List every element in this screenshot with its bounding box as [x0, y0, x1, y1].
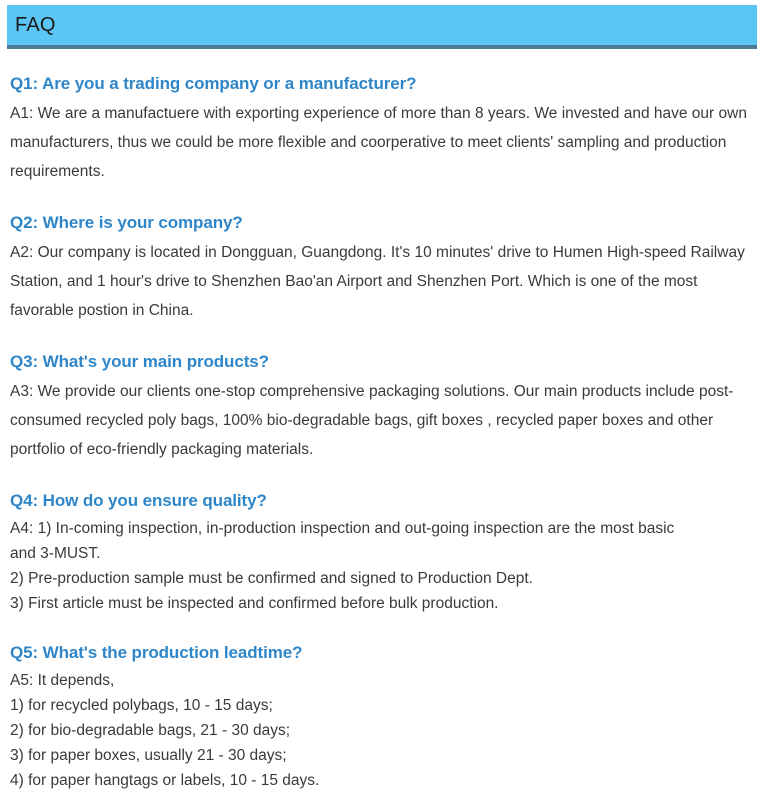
- faq-answer-line: 1) for recycled polybags, 10 - 15 days;: [10, 693, 751, 718]
- faq-question-q2: Q2: Where is your company?: [10, 212, 751, 234]
- faq-answer-q4: A4: 1) In-coming inspection, in-producti…: [10, 516, 751, 616]
- faq-answer-q1: A1: We are a manufactuere with exporting…: [10, 99, 751, 186]
- faq-answer-line: 3) for paper boxes, usually 21 - 30 days…: [10, 743, 751, 768]
- faq-question-q1: Q1: Are you a trading company or a manuf…: [10, 73, 751, 95]
- faq-answer-line: A4: 1) In-coming inspection, in-producti…: [10, 516, 751, 541]
- faq-item-q3: Q3: What's your main products? A3: We pr…: [10, 351, 751, 464]
- faq-answer-line: and 3-MUST.: [10, 541, 751, 566]
- faq-item-q1: Q1: Are you a trading company or a manuf…: [10, 73, 751, 186]
- faq-answer-q2: A2: Our company is located in Dongguan, …: [10, 238, 751, 325]
- faq-item-q2: Q2: Where is your company? A2: Our compa…: [10, 212, 751, 325]
- faq-answer-line: A5: It depends,: [10, 668, 751, 693]
- faq-answer-q3: A3: We provide our clients one-stop comp…: [10, 377, 751, 464]
- page-title: FAQ: [7, 15, 56, 35]
- faq-item-q4: Q4: How do you ensure quality? A4: 1) In…: [10, 490, 751, 616]
- faq-question-q5: Q5: What's the production leadtime?: [10, 642, 751, 664]
- faq-content: Q1: Are you a trading company or a manuf…: [0, 73, 765, 793]
- faq-item-q5: Q5: What's the production leadtime? A5: …: [10, 642, 751, 793]
- faq-answer-line: 3) First article must be inspected and c…: [10, 591, 751, 616]
- faq-header-banner: FAQ: [7, 5, 757, 49]
- faq-answer-line: 2) Pre-production sample must be confirm…: [10, 566, 751, 591]
- faq-answer-line: 2) for bio-degradable bags, 21 - 30 days…: [10, 718, 751, 743]
- faq-answer-line: 4) for paper hangtags or labels, 10 - 15…: [10, 768, 751, 793]
- faq-answer-q5: A5: It depends, 1) for recycled polybags…: [10, 668, 751, 793]
- faq-question-q4: Q4: How do you ensure quality?: [10, 490, 751, 512]
- faq-question-q3: Q3: What's your main products?: [10, 351, 751, 373]
- faq-page: FAQ Q1: Are you a trading company or a m…: [0, 5, 765, 753]
